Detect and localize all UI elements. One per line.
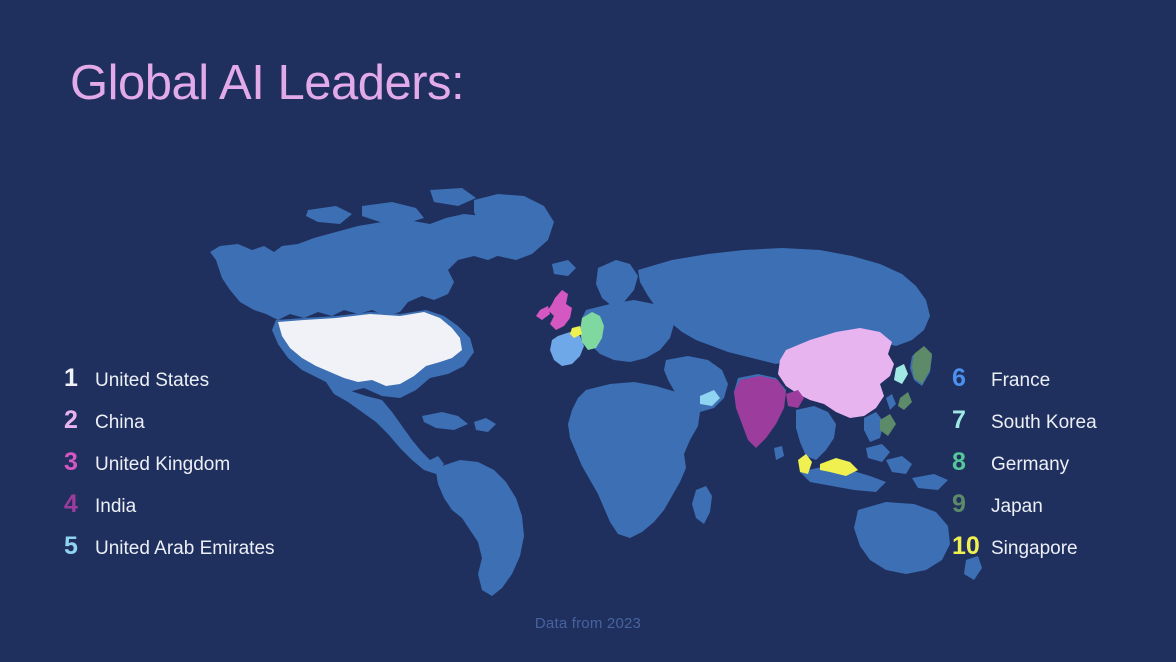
ranking-list-left: 1 United States 2 China 3 United Kingdom… [64, 366, 364, 576]
rank-number: 5 [64, 534, 86, 559]
rank-country: Germany [991, 455, 1069, 474]
ranking-row[interactable]: 6 France [952, 366, 1050, 408]
rank-number: 4 [64, 492, 86, 517]
rank-country: China [95, 413, 145, 432]
ranking-row[interactable]: 3 United Kingdom [64, 450, 230, 492]
rank-country: France [991, 371, 1050, 390]
rank-country: United States [95, 371, 209, 390]
rank-number: 2 [64, 408, 86, 433]
rank-number: 9 [952, 492, 982, 517]
rank-country: United Kingdom [95, 455, 230, 474]
rank-number: 3 [64, 450, 86, 475]
rank-country: Japan [991, 497, 1043, 516]
ranking-row[interactable]: 1 United States [64, 366, 209, 408]
ranking-row[interactable]: 8 Germany [952, 450, 1069, 492]
rank-number: 1 [64, 366, 86, 391]
rank-number: 8 [952, 450, 982, 475]
ranking-row[interactable]: 4 India [64, 492, 136, 534]
slide-root: Global AI Leaders: [0, 0, 1176, 662]
ranking-row[interactable]: 10 Singapore [952, 534, 1078, 576]
rank-country: United Arab Emirates [95, 539, 275, 558]
ranking-row[interactable]: 9 Japan [952, 492, 1043, 534]
rank-number: 7 [952, 408, 982, 433]
ranking-list-right: 6 France 7 South Korea 8 Germany 9 Japan… [952, 366, 1152, 576]
rank-number: 10 [952, 534, 982, 559]
rank-country: India [95, 497, 136, 516]
rank-country: South Korea [991, 413, 1097, 432]
ranking-row[interactable]: 7 South Korea [952, 408, 1097, 450]
rank-number: 6 [952, 366, 982, 391]
ranking-row[interactable]: 5 United Arab Emirates [64, 534, 275, 576]
data-source-note: Data from 2023 [0, 615, 1176, 632]
page-title: Global AI Leaders: [70, 57, 464, 111]
rank-country: Singapore [991, 539, 1078, 558]
ranking-row[interactable]: 2 China [64, 408, 145, 450]
